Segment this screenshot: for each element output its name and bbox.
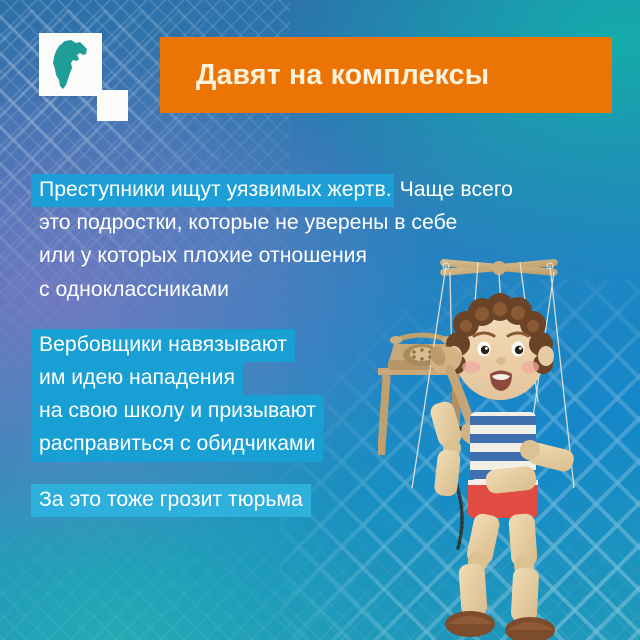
text-line: это подростки, которые не уверены в себе — [31, 207, 465, 240]
text-line: Вербовщики навязывают — [31, 329, 295, 362]
text-line: или у которых плохие отношения — [31, 240, 375, 273]
title-banner: Давят на комплексы — [160, 37, 612, 113]
text-line: Чаще всего — [394, 174, 513, 207]
page-title: Давят на комплексы — [160, 59, 489, 92]
poster-canvas: Давят на комплексы Преступники ищут уязв… — [0, 0, 640, 640]
text-line: им идею нападения — [31, 362, 243, 395]
marionette-puppet-illustration — [378, 252, 640, 640]
text-line: с одноклассниками — [31, 274, 237, 307]
region-map-logo-icon — [47, 39, 95, 91]
paragraph-1-line-1-row: Преступники ищут уязвимых жертв.Чаще все… — [31, 174, 591, 207]
logo-square-large — [39, 33, 102, 96]
brand-logo — [39, 33, 121, 129]
text-line: Преступники ищут уязвимых жертв. — [31, 174, 394, 207]
logo-square-small — [97, 90, 128, 121]
text-line: За это тоже грозит тюрьма — [31, 484, 311, 517]
text-line: расправиться с обидчиками — [31, 428, 323, 461]
control-bar — [440, 259, 558, 276]
text-line: на свою школу и призывают — [31, 395, 324, 428]
